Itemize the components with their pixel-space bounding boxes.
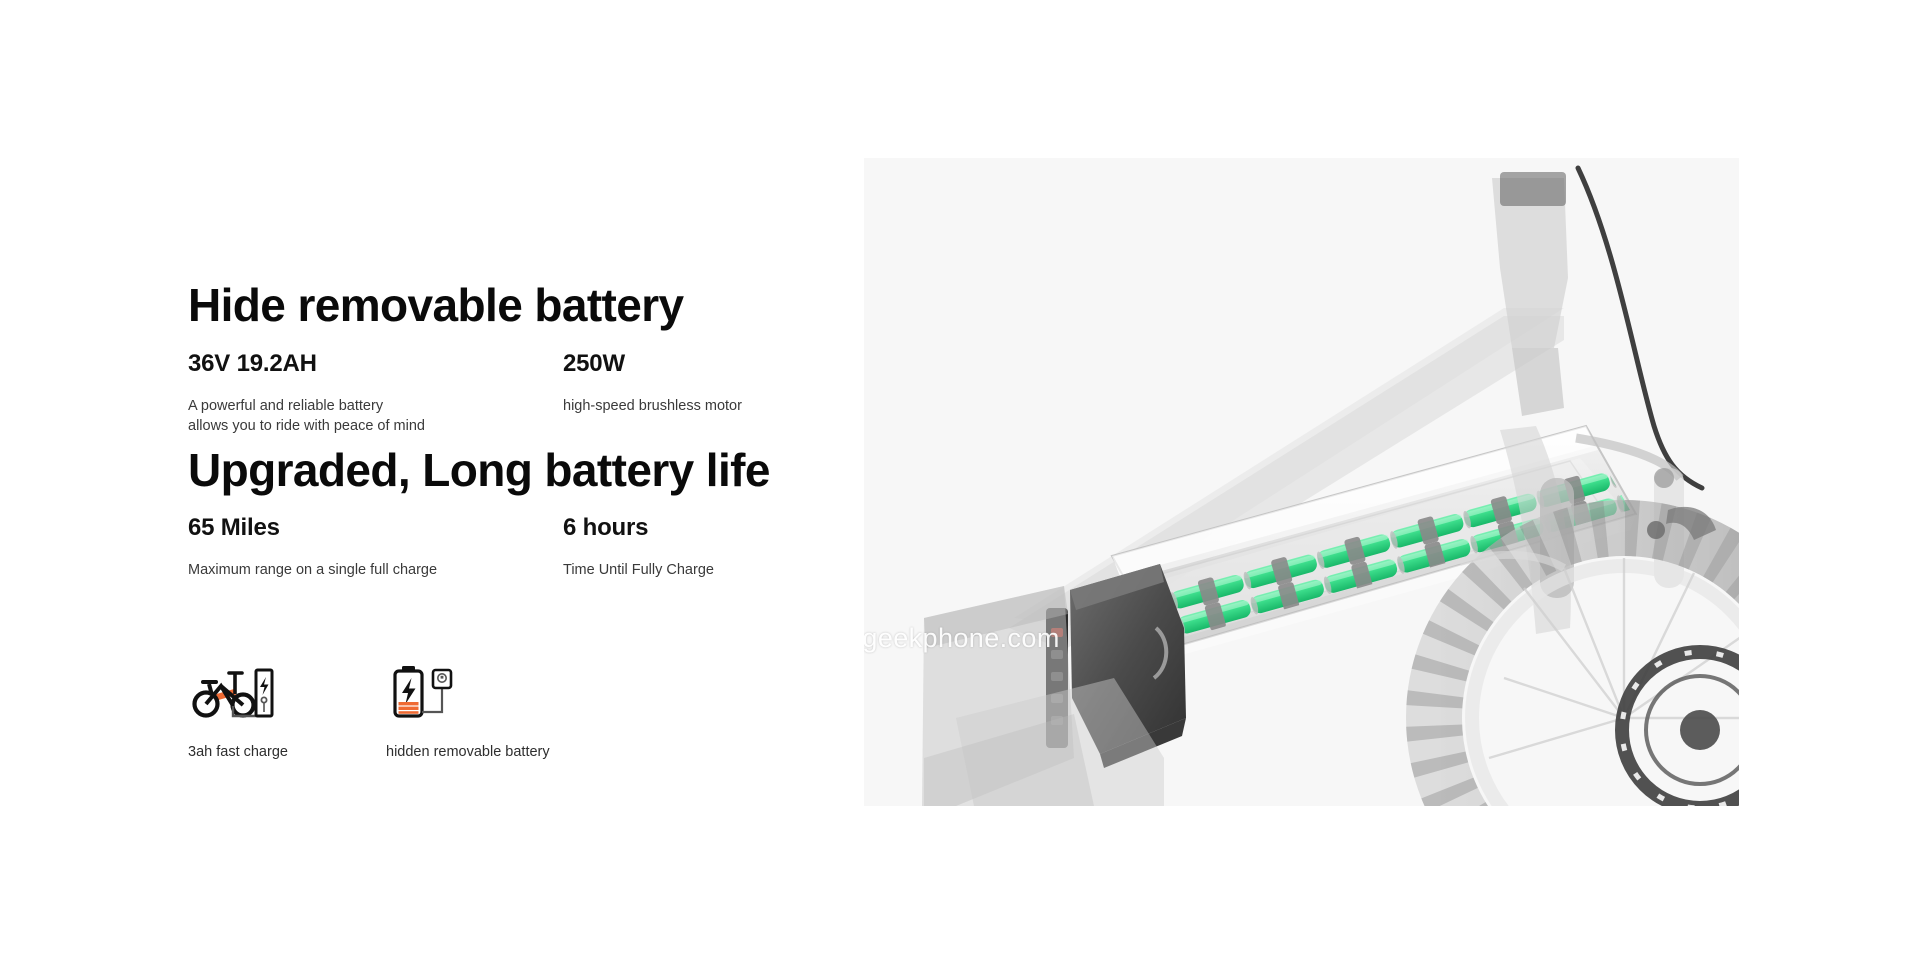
- spec-grid: 36V 19.2AH A powerful and reliable batte…: [188, 350, 848, 580]
- spec-description: Time Until Fully Charge: [563, 560, 848, 580]
- spec-title: 36V 19.2AH: [188, 350, 563, 378]
- spec-item-charge-time: 6 hours Time Until Fully Charge: [563, 514, 848, 580]
- spec-title: 6 hours: [563, 514, 848, 542]
- feature-fast-charge: 3ah fast charge: [188, 658, 386, 762]
- spec-description: Maximum range on a single full charge: [188, 560, 563, 580]
- bike-charging-station-icon: [188, 658, 386, 720]
- feature-label: 3ah fast charge: [188, 742, 386, 762]
- removable-battery-plug-icon: [386, 658, 584, 720]
- feature-removable-battery: hidden removable battery: [386, 658, 584, 762]
- spec-description: high-speed brushless motor: [563, 396, 848, 416]
- feature-label: hidden removable battery: [386, 742, 584, 762]
- spec-item-battery: 36V 19.2AH A powerful and reliable batte…: [188, 350, 563, 436]
- spec-title: 250W: [563, 350, 848, 378]
- headline-line-1: Hide removable battery: [188, 278, 828, 333]
- spec-row: 65 Miles Maximum range on a single full …: [188, 514, 848, 580]
- spec-item-motor: 250W high-speed brushless motor: [563, 350, 848, 436]
- spec-description: A powerful and reliable battery allows y…: [188, 396, 563, 436]
- product-feature-page: Hide removable battery Upgraded, Long ba…: [0, 0, 1920, 962]
- xray-ebike-illustration: [864, 158, 1739, 806]
- feature-icon-row: 3ah fast charge: [188, 658, 584, 762]
- spec-row: 36V 19.2AH A powerful and reliable batte…: [188, 350, 848, 436]
- product-photo: igeekphone.com: [864, 158, 1739, 806]
- spec-title: 65 Miles: [188, 514, 563, 542]
- spec-item-range: 65 Miles Maximum range on a single full …: [188, 514, 563, 580]
